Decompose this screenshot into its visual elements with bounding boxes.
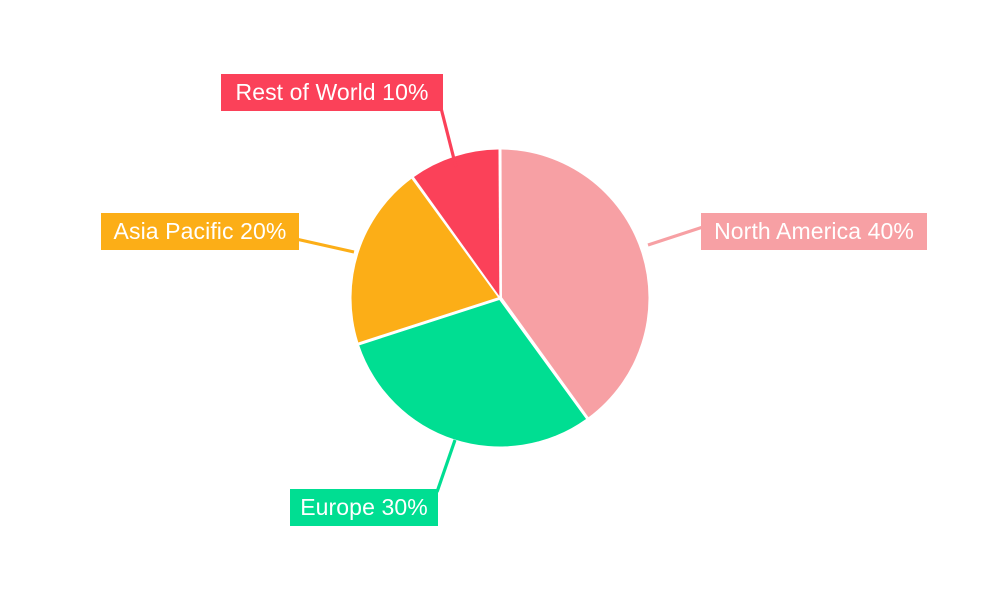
pie-label-europe[interactable]: Europe 30% (290, 489, 438, 526)
pie-chart-canvas (0, 0, 1000, 600)
leader-line-north-america (648, 226, 706, 245)
pie-label-north-america[interactable]: North America 40% (701, 213, 927, 250)
leader-line-europe (437, 440, 455, 492)
pie-slices (351, 150, 648, 447)
leader-line-rest-of-world (441, 108, 456, 167)
pie-label-asia-pacific[interactable]: Asia Pacific 20% (101, 213, 299, 250)
leader-line-asia-pacific (296, 239, 354, 252)
pie-label-rest-of-world[interactable]: Rest of World 10% (221, 74, 443, 111)
pie-chart-figure: North America 40% Europe 30% Asia Pacifi… (0, 0, 1000, 600)
